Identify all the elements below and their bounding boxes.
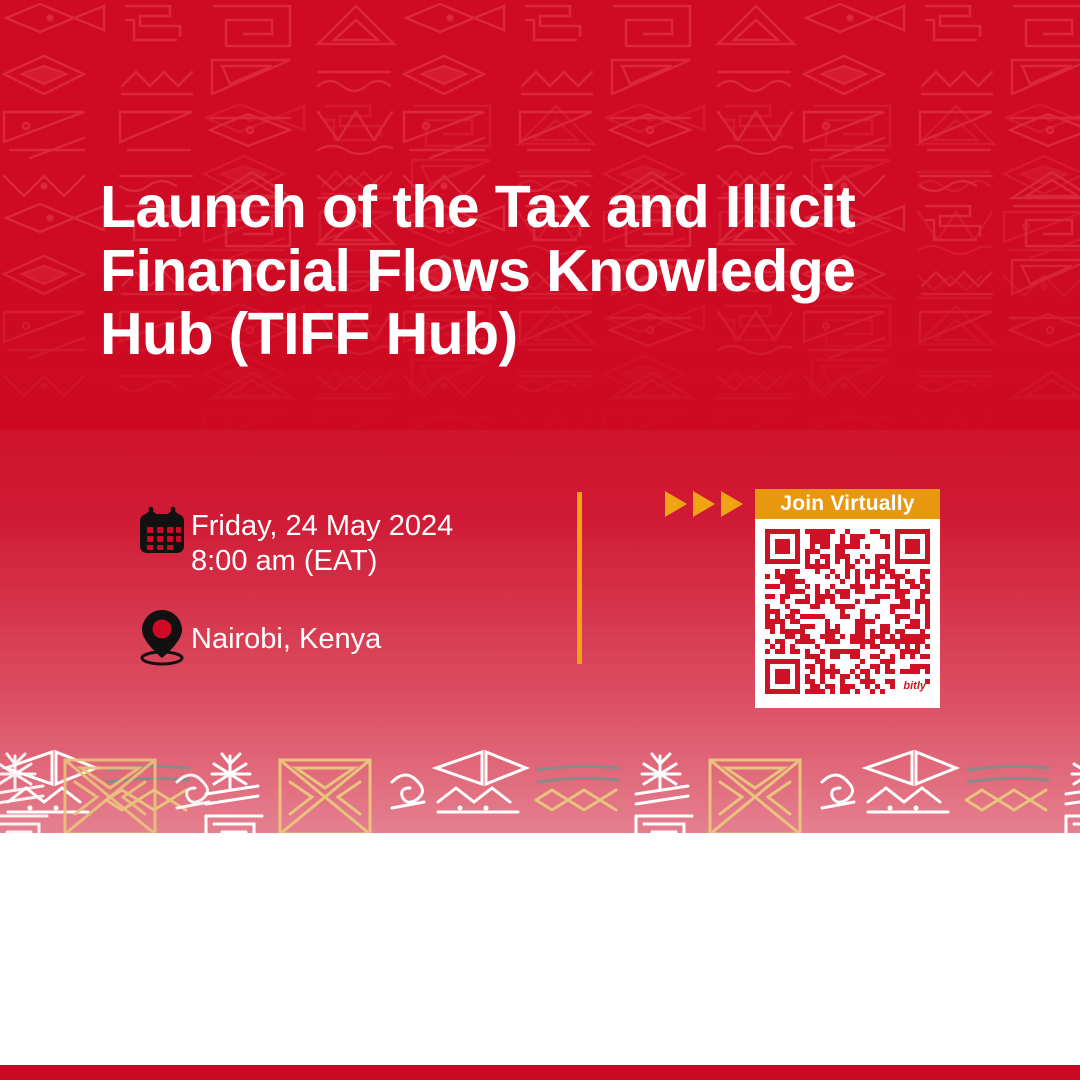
bitly-brand-mark: bitly (903, 680, 926, 692)
detail-row-date: Friday, 24 May 2024 8:00 am (EAT) (133, 505, 563, 580)
footer-section: www.taxandiffhub.net/ TIFF KNOWLEDGE HUB (0, 833, 1080, 1065)
event-time: 8:00 am (EAT) (191, 545, 377, 577)
bottom-accent-bar (0, 1065, 1080, 1080)
join-virtually-banner: Join Virtually (755, 489, 940, 519)
event-details: Friday, 24 May 2024 8:00 am (EAT) Nairob… (133, 505, 563, 688)
vertical-divider (577, 492, 582, 664)
map-pin-icon (133, 602, 191, 666)
hero-section: Launch of the Tax and Illicit Financial … (0, 0, 1080, 833)
qr-code-card[interactable]: bitly (755, 519, 940, 708)
calendar-icon (133, 505, 191, 557)
event-date: Friday, 24 May 2024 (191, 510, 453, 542)
page-title: Launch of the Tax and Illicit Financial … (100, 176, 960, 367)
event-location: Nairobi, Kenya (191, 602, 381, 657)
tribal-pattern-band (0, 742, 1080, 833)
qr-code[interactable] (765, 529, 930, 694)
event-datetime: Friday, 24 May 2024 8:00 am (EAT) (191, 505, 453, 580)
join-virtually-block: Join Virtually bitly (755, 489, 940, 708)
triple-arrow-right-icon (665, 491, 743, 517)
detail-row-location: Nairobi, Kenya (133, 602, 563, 666)
event-poster: Launch of the Tax and Illicit Financial … (0, 0, 1080, 1080)
